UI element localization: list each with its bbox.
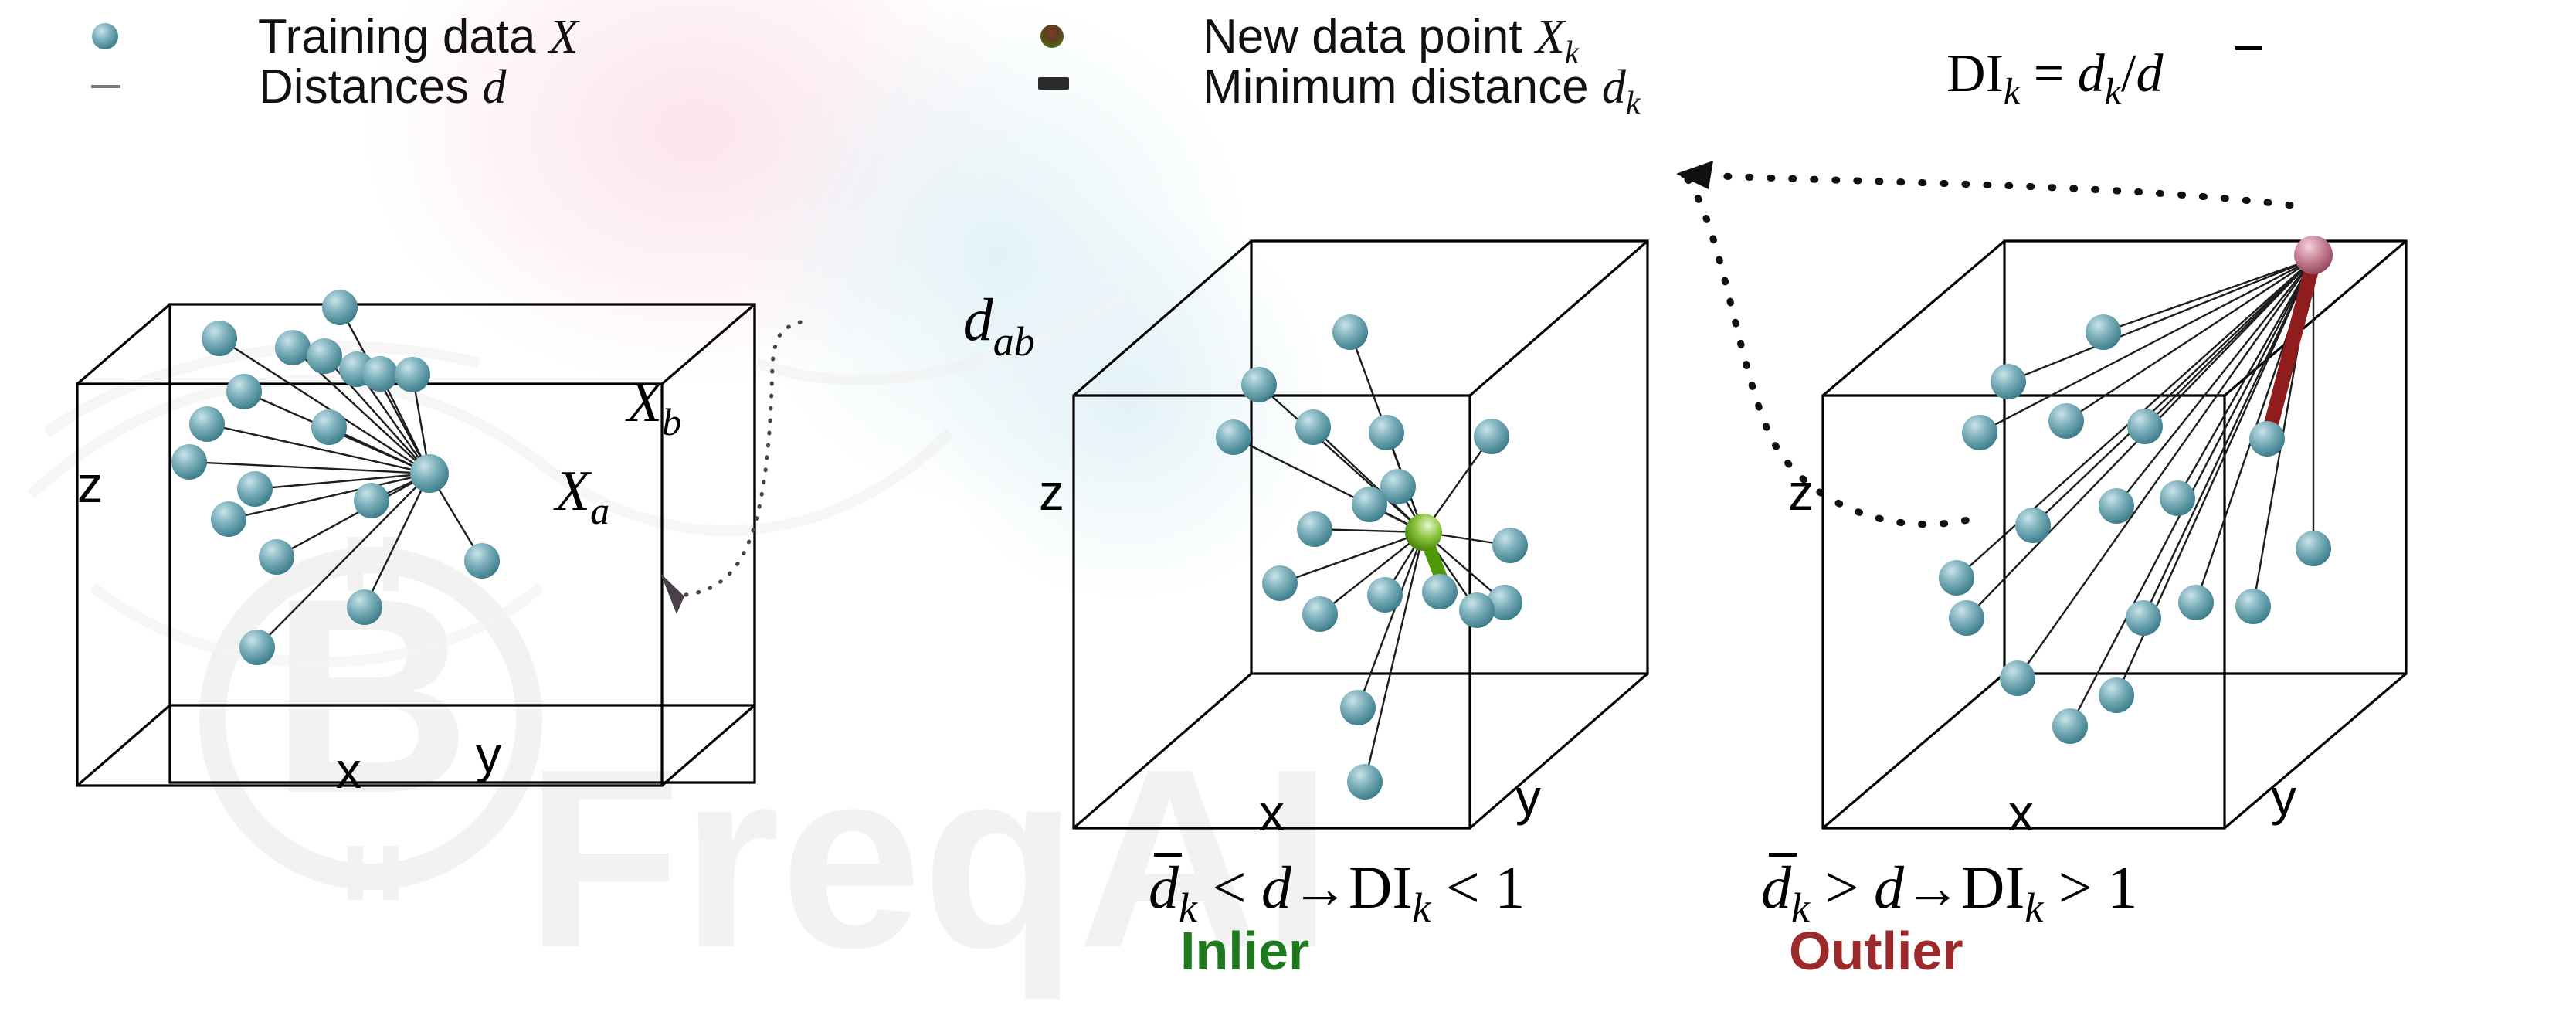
training-point [2178,585,2214,620]
caption-outlier-math: dk > d→DIk > 1 [1610,853,2255,931]
training-point [2099,488,2134,524]
panel-outlier: z y x dk > d→DIk > 1 Outlier [0,0,2576,1022]
distance-lines-outlier [1957,259,2313,726]
figure-canvas: B FreqAI Training data X [0,0,2576,1022]
training-point [1939,560,1974,596]
training-point [2296,531,2331,566]
training-point [2048,403,2084,439]
training-point [2086,314,2121,350]
training-point [2052,708,2088,744]
training-point [2235,589,2271,624]
axis-label-z-outlier: z [1788,463,1814,521]
caption-outlier: dk > d→DIk > 1 Outlier [1610,853,2255,981]
training-point [2000,660,2035,696]
training-point [2249,421,2285,457]
cube-edge-bl [1823,674,2004,828]
training-point [2127,409,2163,444]
axis-label-y-outlier: y [2271,769,2296,826]
axis-label-x-outlier: x [2008,784,2034,841]
training-point [2099,677,2134,713]
training-point [1949,600,1984,636]
new-data-point-outlier [2294,236,2333,274]
caption-outlier-label: Outlier [1789,921,1963,981]
cube-front-face [1823,396,2225,828]
training-point [2160,480,2195,516]
training-point [1962,415,1997,450]
training-point [1991,364,2026,399]
caption-outlier-dbar [1769,853,1797,857]
training-point [2015,508,2051,543]
training-point [2126,600,2161,636]
cube-edge-tl [1823,241,2004,396]
cube-edge-br [2225,674,2406,828]
